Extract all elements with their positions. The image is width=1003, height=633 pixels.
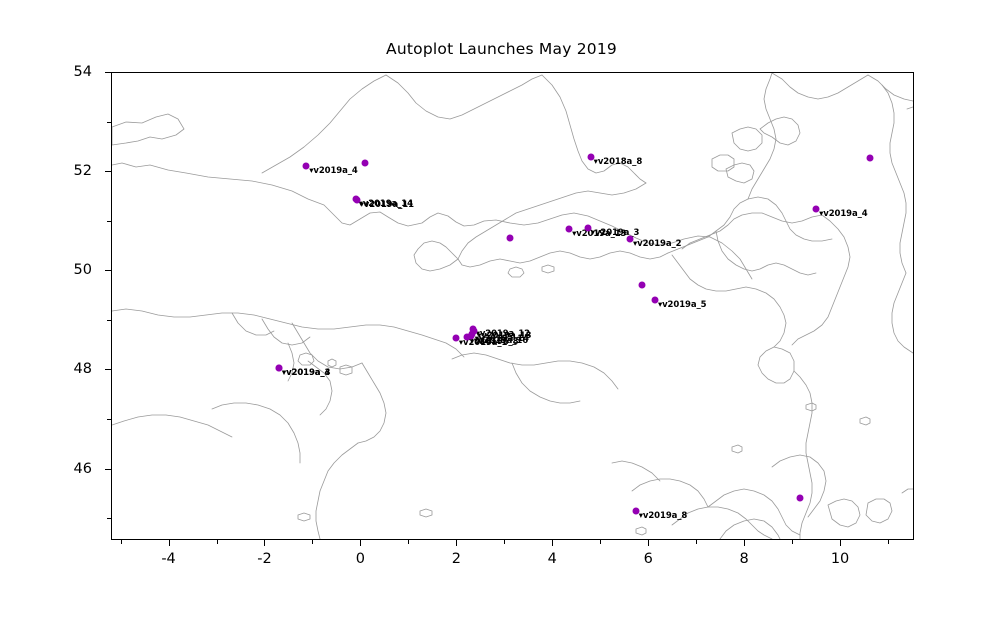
scatter-point bbox=[507, 234, 514, 241]
scatter-point-label: ▾v2019a_3 bbox=[282, 368, 330, 378]
scatter-point bbox=[362, 160, 369, 167]
x-axis-tick bbox=[840, 540, 841, 546]
y-axis-tick bbox=[105, 171, 111, 172]
scatter-point-label: ▾v2018a_8 bbox=[594, 157, 642, 167]
scatter-point-label: ▾v2019a_8 bbox=[470, 337, 518, 347]
scatter-points-layer: ▾v2019a_4▾v2019a_14▾v2019a_11▾v2019a_4▾v… bbox=[112, 73, 913, 539]
y-axis-tick-label: 48 bbox=[32, 361, 92, 377]
x-axis-tick bbox=[360, 540, 361, 546]
y-axis-tick-label: 46 bbox=[32, 461, 92, 477]
scatter-point bbox=[797, 495, 804, 502]
x-axis-tick-label: 8 bbox=[714, 551, 774, 567]
x-axis-tick bbox=[600, 540, 601, 544]
scatter-point bbox=[866, 155, 873, 162]
y-axis-tick bbox=[107, 221, 111, 222]
x-axis-tick bbox=[121, 540, 122, 544]
y-axis-tick bbox=[105, 72, 111, 73]
x-axis-tick bbox=[217, 540, 218, 544]
scatter-point bbox=[639, 281, 646, 288]
x-axis-tick bbox=[504, 540, 505, 544]
x-axis-tick-label: 0 bbox=[330, 551, 390, 567]
x-axis-tick bbox=[648, 540, 649, 546]
y-axis-tick-label: 54 bbox=[32, 64, 92, 80]
x-axis-tick bbox=[792, 540, 793, 544]
page-title: Autoplot Launches May 2019 bbox=[0, 40, 1003, 58]
x-axis-tick-label: 2 bbox=[426, 551, 486, 567]
scatter-point-label: ▾v2019a_5 bbox=[658, 300, 706, 310]
y-axis-tick bbox=[107, 419, 111, 420]
x-axis-tick bbox=[888, 540, 889, 544]
matplotlib-figure: Autoplot Launches May 2019 bbox=[0, 0, 1003, 633]
y-axis-tick bbox=[107, 320, 111, 321]
scatter-point-label: ▾v2019a_4 bbox=[819, 209, 867, 219]
y-axis-tick bbox=[105, 270, 111, 271]
map-plot-axes: ▾v2019a_4▾v2019a_14▾v2019a_11▾v2019a_4▾v… bbox=[111, 72, 914, 540]
x-axis-tick bbox=[696, 540, 697, 544]
scatter-point-label: ▾v2019a_4 bbox=[309, 166, 357, 176]
x-axis-tick bbox=[456, 540, 457, 546]
scatter-point-label: ▾v2019a_2 bbox=[633, 239, 681, 249]
x-axis-tick-label: -4 bbox=[139, 551, 199, 567]
x-axis-tick-label: 6 bbox=[618, 551, 678, 567]
y-axis-tick bbox=[105, 369, 111, 370]
y-axis-tick bbox=[107, 518, 111, 519]
y-axis-tick bbox=[107, 122, 111, 123]
x-axis-tick bbox=[312, 540, 313, 544]
x-axis-tick bbox=[264, 540, 265, 546]
x-axis-tick bbox=[744, 540, 745, 546]
x-axis-tick-label: -2 bbox=[234, 551, 294, 567]
y-axis-tick bbox=[105, 469, 111, 470]
x-axis-tick-label: 4 bbox=[522, 551, 582, 567]
y-axis-tick-label: 50 bbox=[32, 262, 92, 278]
scatter-point-label: ▾v2019a_8 bbox=[639, 511, 687, 521]
scatter-point-label: ▾v2019a_11 bbox=[360, 200, 414, 210]
x-axis-tick bbox=[169, 540, 170, 546]
y-axis-tick-label: 52 bbox=[32, 163, 92, 179]
x-axis-tick bbox=[408, 540, 409, 544]
x-axis-tick-label: 10 bbox=[810, 551, 870, 567]
x-axis-tick bbox=[552, 540, 553, 546]
